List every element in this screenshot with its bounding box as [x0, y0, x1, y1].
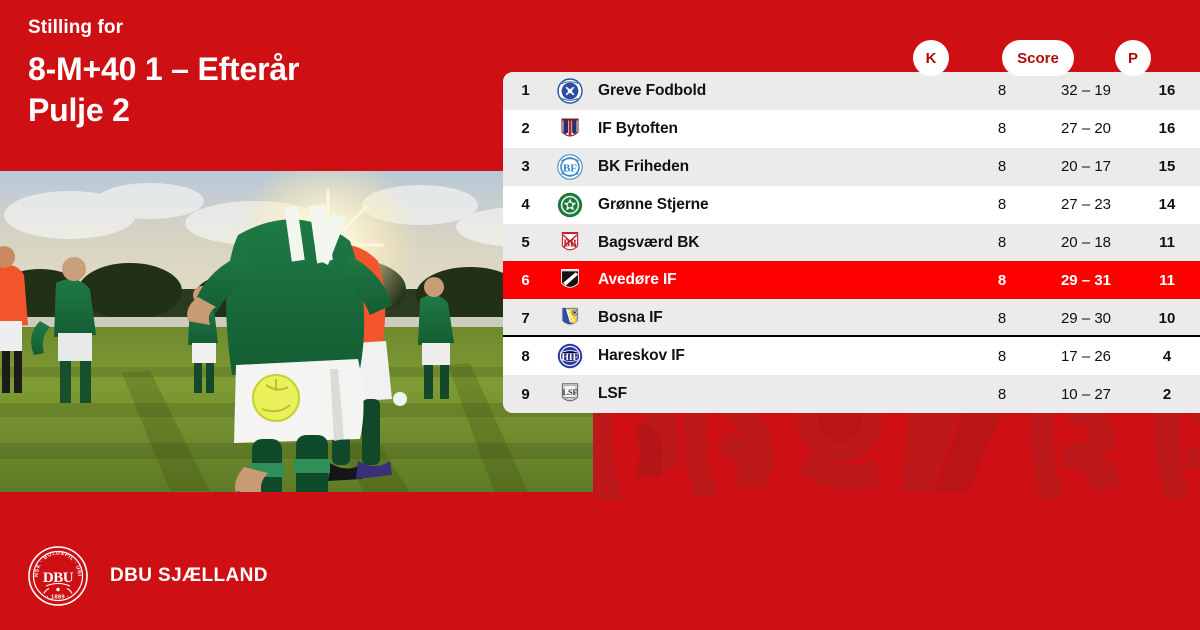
row-matches-played: 8 — [966, 158, 1038, 175]
row-points: 4 — [1134, 348, 1200, 365]
table-row[interactable]: 9 LSF LSF810 – 272 — [503, 375, 1200, 413]
if-bytoften-logo — [548, 116, 592, 142]
header-block: Stilling for 8-M+40 1 – Efterår Pulje 2 — [28, 18, 498, 131]
table-row[interactable]: 2 IF Bytoften827 – 2016 — [503, 110, 1200, 148]
row-position: 6 — [503, 272, 548, 289]
row-goal-score: 27 – 23 — [1038, 196, 1134, 213]
bagsvaerd-bk-logo: BB — [548, 230, 592, 256]
standings-table: 1 Greve Fodbold832 – 19162 IF Bytoften82… — [503, 72, 1200, 413]
column-header-p: P — [1115, 40, 1151, 76]
row-goal-score: 32 – 19 — [1038, 82, 1134, 99]
row-matches-played: 8 — [966, 234, 1038, 251]
column-header-score: Score — [1002, 40, 1074, 76]
row-team-name: LSF — [592, 385, 966, 403]
svg-text:· 1889 ·: · 1889 · — [47, 595, 69, 601]
row-points: 15 — [1134, 158, 1200, 175]
footer-block: DANSK · BOLDSPIL · UNION DBU · 1889 · DB… — [28, 546, 268, 606]
row-points: 14 — [1134, 196, 1200, 213]
table-row[interactable]: 1 Greve Fodbold832 – 1916 — [503, 72, 1200, 110]
row-goal-score: 20 – 17 — [1038, 158, 1134, 175]
row-team-name: Grønne Stjerne — [592, 196, 966, 214]
row-points: 11 — [1134, 272, 1200, 289]
row-team-name: Avedøre IF — [592, 271, 966, 289]
greve-fodbold-logo — [548, 78, 592, 104]
row-points: 16 — [1134, 120, 1200, 137]
row-goal-score: 10 – 27 — [1038, 386, 1134, 403]
table-row[interactable]: 4 Grønne Stjerne827 – 2314 — [503, 186, 1200, 224]
row-position: 8 — [503, 348, 548, 365]
row-goal-score: 29 – 30 — [1038, 310, 1134, 327]
row-team-name: Bosna IF — [592, 309, 966, 327]
svg-text:LSF: LSF — [562, 388, 577, 397]
row-goal-score: 27 – 20 — [1038, 120, 1134, 137]
row-matches-played: 8 — [966, 196, 1038, 213]
table-row[interactable]: 5 BB Bagsværd BK820 – 1811 — [503, 224, 1200, 262]
table-row[interactable]: 8 HIF Hareskov IF817 – 264 — [503, 337, 1200, 375]
row-matches-played: 8 — [966, 82, 1038, 99]
row-points: 2 — [1134, 386, 1200, 403]
row-position: 1 — [503, 82, 548, 99]
row-points: 11 — [1134, 234, 1200, 251]
lsf-logo: LSF — [548, 381, 592, 407]
eyebrow-label: Stilling for — [28, 18, 498, 39]
page-title: 8-M+40 1 – Efterår Pulje 2 — [28, 49, 498, 131]
row-goal-score: 20 – 18 — [1038, 234, 1134, 251]
table-row[interactable]: 3 BF BK Friheden820 – 1715 — [503, 148, 1200, 186]
standings-graphic: Stilling for 8-M+40 1 – Efterår Pulje 2 — [0, 0, 1200, 630]
row-goal-score: 29 – 31 — [1038, 272, 1134, 289]
row-matches-played: 8 — [966, 272, 1038, 289]
row-matches-played: 8 — [966, 120, 1038, 137]
gronne-stjerne-logo — [548, 192, 592, 218]
row-matches-played: 8 — [966, 310, 1038, 327]
row-team-name: Bagsværd BK — [592, 234, 966, 252]
dbu-crest-icon: DANSK · BOLDSPIL · UNION DBU · 1889 · — [28, 546, 88, 606]
row-team-name: BK Friheden — [592, 158, 966, 176]
hareskov-if-logo: HIF — [548, 343, 592, 369]
row-position: 5 — [503, 234, 548, 251]
row-team-name: Hareskov IF — [592, 347, 966, 365]
avedore-if-logo — [548, 267, 592, 293]
row-position: 3 — [503, 158, 548, 175]
row-team-name: Greve Fodbold — [592, 82, 966, 100]
svg-text:HIF: HIF — [561, 352, 578, 363]
column-header-k: K — [913, 40, 949, 76]
row-points: 10 — [1134, 310, 1200, 327]
table-row[interactable]: 6 Avedøre IF829 – 3111 — [503, 261, 1200, 299]
svg-text:BB: BB — [563, 238, 577, 249]
row-team-name: IF Bytoften — [592, 120, 966, 138]
row-position: 7 — [503, 310, 548, 327]
table-row[interactable]: 7 Bosna IF829 – 3010 — [503, 299, 1200, 337]
bosna-if-logo — [548, 305, 592, 331]
row-goal-score: 17 – 26 — [1038, 348, 1134, 365]
footer-label: DBU SJÆLLAND — [110, 565, 268, 587]
svg-text:BF: BF — [563, 162, 577, 174]
row-points: 16 — [1134, 82, 1200, 99]
row-position: 4 — [503, 196, 548, 213]
row-matches-played: 8 — [966, 348, 1038, 365]
row-position: 9 — [503, 386, 548, 403]
row-position: 2 — [503, 120, 548, 137]
bk-friheden-logo: BF — [548, 154, 592, 180]
row-matches-played: 8 — [966, 386, 1038, 403]
